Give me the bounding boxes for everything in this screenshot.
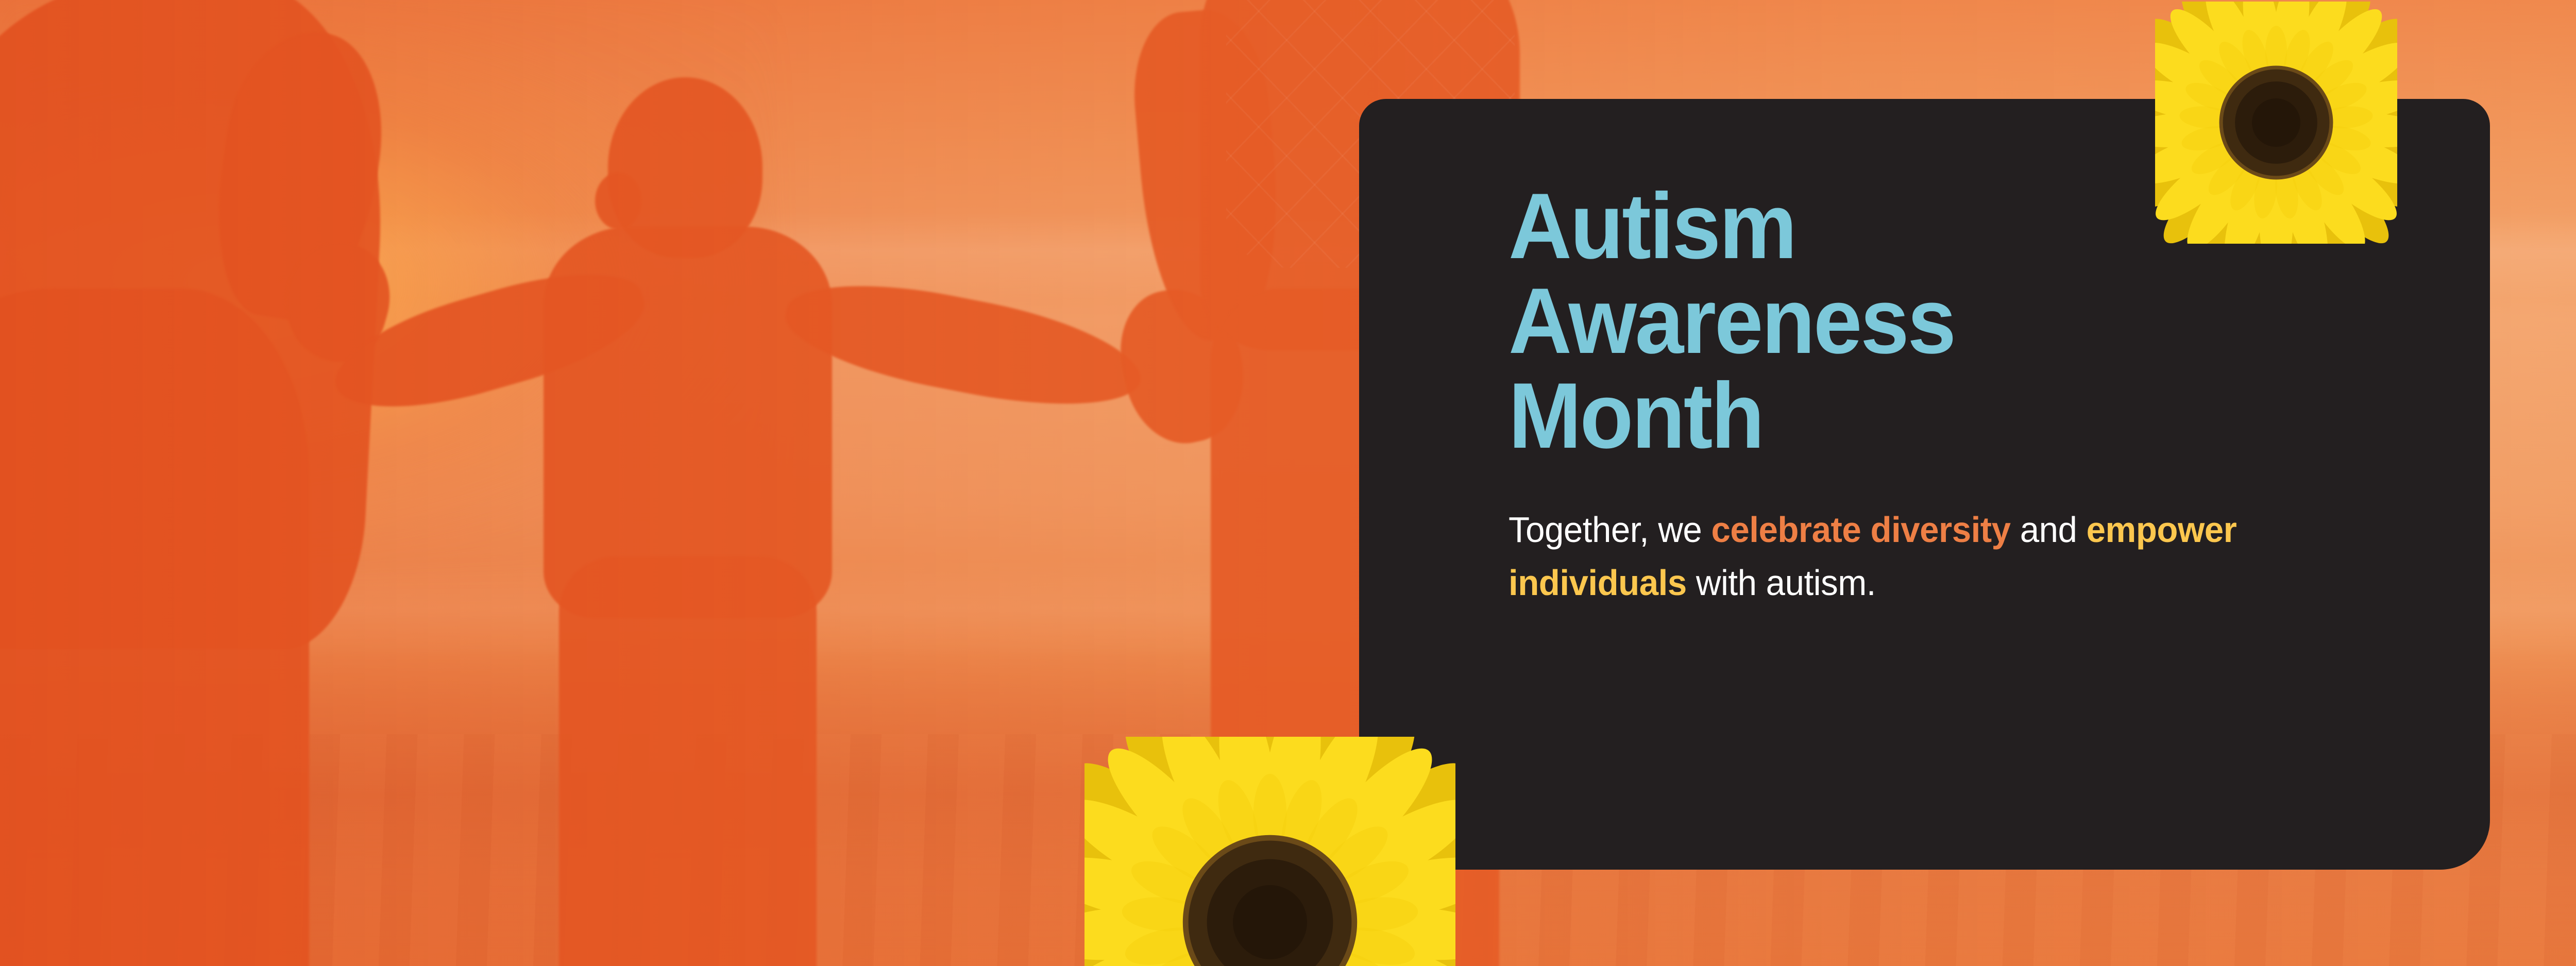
content-card: Autism Awareness Month Together, we cele…	[1359, 99, 2490, 870]
subtitle-highlight-diversity: celebrate diversity	[1711, 510, 2010, 550]
card-content: Autism Awareness Month Together, we cele…	[1509, 179, 2415, 609]
page-title: Autism Awareness Month	[1509, 179, 2361, 463]
autism-awareness-banner: Autism Awareness Month Together, we cele…	[0, 0, 2576, 966]
subtitle: Together, we celebrate diversity and emp…	[1509, 503, 2379, 609]
subtitle-text-3: with autism.	[1687, 563, 1876, 603]
subtitle-text-2: and	[2011, 510, 2087, 550]
subtitle-text-1: Together, we	[1509, 510, 1711, 550]
